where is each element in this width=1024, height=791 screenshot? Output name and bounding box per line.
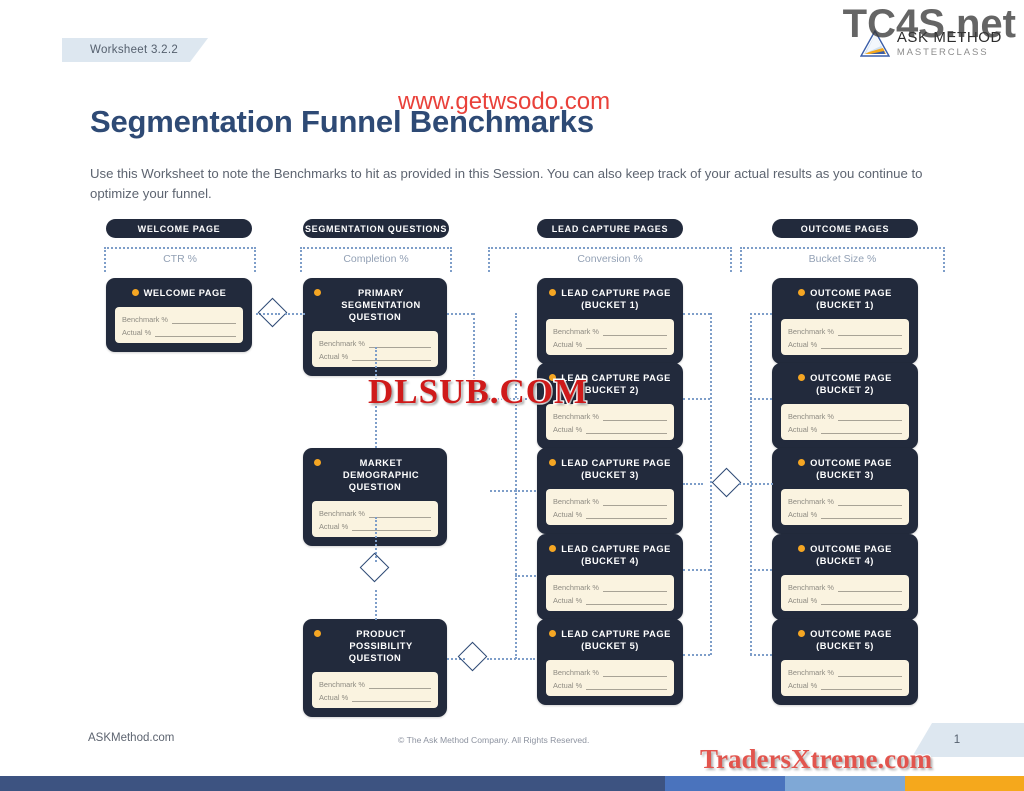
benchmark-field[interactable]: Benchmark % <box>788 409 902 421</box>
actual-field[interactable]: Actual % <box>553 422 667 434</box>
column-header-pill-0: WELCOME PAGE <box>106 219 252 238</box>
card-title: WELCOME PAGE <box>144 287 227 299</box>
connector-diamond-5 <box>360 553 390 583</box>
benchmark-field-label: Benchmark % <box>788 412 834 421</box>
connector-diamond-15 <box>458 642 488 672</box>
card-subtitle: (BUCKET 4) <box>546 555 674 567</box>
benchmark-field[interactable]: Benchmark % <box>319 677 431 689</box>
benchmark-field-input-line[interactable] <box>603 413 667 421</box>
actual-field-label: Actual % <box>122 328 151 337</box>
card-header: OUTCOME PAGE <box>781 628 909 640</box>
connector-line-h-7 <box>447 313 473 315</box>
benchmark-field-input-line[interactable] <box>369 340 431 348</box>
card-header: PRODUCT POSSIBILITY <box>312 628 438 652</box>
funnel-card[interactable]: LEAD CAPTURE PAGE(BUCKET 1)Benchmark %Ac… <box>537 278 683 364</box>
funnel-card[interactable]: OUTCOME PAGE(BUCKET 4)Benchmark %Actual … <box>772 534 918 620</box>
benchmark-field-input-line[interactable] <box>369 681 431 689</box>
column-header-label: SEGMENTATION QUESTIONS <box>305 224 447 234</box>
footer-copyright: © The Ask Method Company. All Rights Res… <box>398 735 589 745</box>
actual-field-label: Actual % <box>553 340 582 349</box>
orange-dot-icon <box>798 374 805 381</box>
card-subtitle: QUESTION <box>312 652 438 664</box>
funnel-card[interactable]: WELCOME PAGEBenchmark %Actual % <box>106 278 252 352</box>
card-header: LEAD CAPTURE PAGE <box>546 628 674 640</box>
card-fields: Benchmark %Actual % <box>312 672 438 708</box>
orange-dot-icon <box>549 630 556 637</box>
connector-line-h-26 <box>739 483 773 485</box>
benchmark-field-label: Benchmark % <box>553 412 599 421</box>
card-header: WELCOME PAGE <box>115 287 243 299</box>
card-title: LEAD CAPTURE PAGE <box>561 287 671 299</box>
bottom-bar-segment-navy <box>0 776 665 791</box>
benchmark-field-input-line[interactable] <box>369 510 431 518</box>
card-fields: Benchmark %Actual % <box>546 489 674 525</box>
connector-line-v-6 <box>375 590 377 620</box>
card-fields: Benchmark %Actual % <box>781 660 909 696</box>
connector-line-h-30 <box>750 654 772 656</box>
card-title: OUTCOME PAGE <box>810 287 892 299</box>
actual-field-label: Actual % <box>319 352 348 361</box>
card-subtitle: (BUCKET 5) <box>781 640 909 652</box>
orange-dot-icon <box>549 545 556 552</box>
funnel-card[interactable]: OUTCOME PAGE(BUCKET 1)Benchmark %Actual … <box>772 278 918 364</box>
funnel-card[interactable]: PRODUCT POSSIBILITYQUESTIONBenchmark %Ac… <box>303 619 447 717</box>
actual-field-label: Actual % <box>553 425 582 434</box>
card-header: OUTCOME PAGE <box>781 457 909 469</box>
connector-line-v-12 <box>515 490 517 575</box>
column-header-pill-3: OUTCOME PAGES <box>772 219 918 238</box>
card-subtitle: (BUCKET 5) <box>546 640 674 652</box>
connector-line-h-21 <box>683 569 710 571</box>
card-subtitle: (BUCKET 4) <box>781 555 909 567</box>
actual-field[interactable]: Actual % <box>319 690 431 702</box>
benchmark-field-label: Benchmark % <box>319 680 365 689</box>
card-header: PRIMARY SEGMENTATION <box>312 287 438 311</box>
funnel-card[interactable]: OUTCOME PAGE(BUCKET 5)Benchmark %Actual … <box>772 619 918 705</box>
benchmark-field[interactable]: Benchmark % <box>553 665 667 677</box>
column-metric-box-2: Conversion % <box>488 247 732 272</box>
actual-field-input-line[interactable] <box>586 597 667 605</box>
column-metric-label: Conversion % <box>490 253 730 265</box>
bottom-bar-segment-lightblue <box>785 776 905 791</box>
connector-line-h-20 <box>683 483 703 485</box>
watermark-getwsodo: www.getwsodo.com <box>398 88 610 116</box>
card-title: LEAD CAPTURE PAGE <box>561 628 671 640</box>
benchmark-field-label: Benchmark % <box>553 583 599 592</box>
benchmark-field-input-line[interactable] <box>838 669 902 677</box>
card-title: OUTCOME PAGE <box>810 628 892 640</box>
column-header-label: OUTCOME PAGES <box>801 224 889 234</box>
orange-dot-icon <box>549 289 556 296</box>
actual-field[interactable]: Actual % <box>788 337 902 349</box>
card-subtitle: (BUCKET 1) <box>781 299 909 311</box>
orange-dot-icon <box>798 545 805 552</box>
card-title: OUTCOME PAGE <box>810 543 892 555</box>
orange-dot-icon <box>798 630 805 637</box>
actual-field-input-line[interactable] <box>352 694 431 702</box>
card-fields: Benchmark %Actual % <box>781 404 909 440</box>
bottom-color-bar <box>0 776 1024 791</box>
card-subtitle: QUESTION <box>312 311 438 323</box>
actual-field[interactable]: Actual % <box>788 422 902 434</box>
column-header-pill-2: LEAD CAPTURE PAGES <box>537 219 683 238</box>
card-title: OUTCOME PAGE <box>810 372 892 384</box>
connector-line-h-16 <box>487 658 535 660</box>
benchmark-field[interactable]: Benchmark % <box>553 324 667 336</box>
connector-line-h-29 <box>750 569 772 571</box>
footer-site-label: ASKMethod.com <box>88 732 174 744</box>
benchmark-field[interactable]: Benchmark % <box>788 324 902 336</box>
benchmark-field[interactable]: Benchmark % <box>553 494 667 506</box>
actual-field-input-line[interactable] <box>586 341 667 349</box>
actual-field-input-line[interactable] <box>352 353 431 361</box>
actual-field[interactable]: Actual % <box>788 678 902 690</box>
card-subtitle: QUESTION <box>312 481 438 493</box>
card-subtitle: (BUCKET 2) <box>781 384 909 396</box>
column-metric-label: Bucket Size % <box>742 253 943 265</box>
card-header: LEAD CAPTURE PAGE <box>546 287 674 299</box>
watermark-tradersxtreme: TradersXtreme.com <box>700 744 932 775</box>
benchmark-field[interactable]: Benchmark % <box>788 580 902 592</box>
benchmark-field[interactable]: Benchmark % <box>788 494 902 506</box>
funnel-card[interactable]: OUTCOME PAGE(BUCKET 3)Benchmark %Actual … <box>772 448 918 534</box>
benchmark-field-label: Benchmark % <box>788 583 834 592</box>
actual-field-input-line[interactable] <box>586 682 667 690</box>
actual-field-input-line[interactable] <box>821 682 902 690</box>
orange-dot-icon <box>132 289 139 296</box>
column-header-pill-1: SEGMENTATION QUESTIONS <box>303 219 449 238</box>
connector-line-h-18 <box>683 313 710 315</box>
benchmark-field-label: Benchmark % <box>553 497 599 506</box>
card-title: LEAD CAPTURE PAGE <box>561 543 671 555</box>
benchmark-field-input-line[interactable] <box>603 584 667 592</box>
card-fields: Benchmark %Actual % <box>781 489 909 525</box>
orange-dot-icon <box>314 459 321 466</box>
actual-field-label: Actual % <box>788 340 817 349</box>
benchmark-field-input-line[interactable] <box>838 498 902 506</box>
benchmark-field-label: Benchmark % <box>553 327 599 336</box>
card-title: PRODUCT POSSIBILITY <box>326 628 436 652</box>
actual-field-label: Actual % <box>553 681 582 690</box>
actual-field-input-line[interactable] <box>155 329 236 337</box>
benchmark-field-label: Benchmark % <box>319 509 365 518</box>
actual-field-input-line[interactable] <box>821 341 902 349</box>
watermark-dlsub: DLSUB.COM <box>368 372 588 412</box>
actual-field-input-line[interactable] <box>586 426 667 434</box>
benchmark-field-input-line[interactable] <box>603 328 667 336</box>
actual-field-input-line[interactable] <box>352 523 431 531</box>
card-header: OUTCOME PAGE <box>781 372 909 384</box>
column-metric-box-3: Bucket Size % <box>740 247 945 272</box>
card-fields: Benchmark %Actual % <box>546 660 674 696</box>
funnel-card[interactable]: LEAD CAPTURE PAGE(BUCKET 3)Benchmark %Ac… <box>537 448 683 534</box>
column-metric-box-0: CTR % <box>104 247 256 272</box>
card-header: OUTCOME PAGE <box>781 543 909 555</box>
benchmark-field-label: Benchmark % <box>122 315 168 324</box>
orange-dot-icon <box>549 459 556 466</box>
card-title: PRIMARY SEGMENTATION <box>326 287 436 311</box>
card-fields: Benchmark %Actual % <box>781 575 909 611</box>
benchmark-field-label: Benchmark % <box>788 497 834 506</box>
card-subtitle: (BUCKET 1) <box>546 299 674 311</box>
funnel-card[interactable]: LEAD CAPTURE PAGE(BUCKET 4)Benchmark %Ac… <box>537 534 683 620</box>
connector-line-h-13 <box>515 575 536 577</box>
actual-field-label: Actual % <box>553 596 582 605</box>
actual-field[interactable]: Actual % <box>788 593 902 605</box>
benchmark-field-input-line[interactable] <box>838 413 902 421</box>
card-title: MARKET DEMOGRAPHIC <box>326 457 436 481</box>
connector-line-h-28 <box>750 398 772 400</box>
benchmark-field-label: Benchmark % <box>319 339 365 348</box>
benchmark-field-label: Benchmark % <box>553 668 599 677</box>
benchmark-field[interactable]: Benchmark % <box>788 665 902 677</box>
actual-field[interactable]: Actual % <box>553 678 667 690</box>
actual-field-label: Actual % <box>319 522 348 531</box>
card-header: LEAD CAPTURE PAGE <box>546 543 674 555</box>
connector-line-v-23 <box>710 313 712 655</box>
actual-field[interactable]: Actual % <box>122 325 236 337</box>
column-header-label: WELCOME PAGE <box>138 224 221 234</box>
actual-field-input-line[interactable] <box>821 426 902 434</box>
connector-diamond-24 <box>712 468 742 498</box>
funnel-card[interactable]: OUTCOME PAGE(BUCKET 2)Benchmark %Actual … <box>772 363 918 449</box>
actual-field-label: Actual % <box>788 425 817 434</box>
actual-field-label: Actual % <box>788 510 817 519</box>
connector-line-h-2 <box>285 313 305 315</box>
actual-field-label: Actual % <box>788 681 817 690</box>
worksheet-page: Worksheet 3.2.2 ASK METHOD MASTERCLASS S… <box>0 0 1024 791</box>
actual-field[interactable]: Actual % <box>553 337 667 349</box>
benchmark-field-input-line[interactable] <box>603 669 667 677</box>
benchmark-field-input-line[interactable] <box>838 584 902 592</box>
actual-field-input-line[interactable] <box>821 597 902 605</box>
card-subtitle: (BUCKET 3) <box>781 469 909 481</box>
column-metric-label: Completion % <box>302 253 450 265</box>
connector-line-h-22 <box>683 654 710 656</box>
card-fields: Benchmark %Actual % <box>546 575 674 611</box>
connector-line-h-27 <box>750 313 772 315</box>
card-fields: Benchmark %Actual % <box>115 307 243 343</box>
actual-field-label: Actual % <box>788 596 817 605</box>
benchmark-field-label: Benchmark % <box>788 327 834 336</box>
actual-field[interactable]: Actual % <box>553 593 667 605</box>
column-header-label: LEAD CAPTURE PAGES <box>552 224 668 234</box>
orange-dot-icon <box>314 289 321 296</box>
card-fields: Benchmark %Actual % <box>781 319 909 355</box>
bottom-bar-segment-orange <box>905 776 1024 791</box>
benchmark-field-input-line[interactable] <box>172 316 236 324</box>
orange-dot-icon <box>798 459 805 466</box>
benchmark-field-input-line[interactable] <box>838 328 902 336</box>
actual-field-input-line[interactable] <box>821 511 902 519</box>
bottom-bar-segment-blue <box>665 776 785 791</box>
benchmark-field[interactable]: Benchmark % <box>122 312 236 324</box>
connector-line-h-11 <box>490 490 536 492</box>
actual-field[interactable]: Actual % <box>553 507 667 519</box>
funnel-card[interactable]: LEAD CAPTURE PAGE(BUCKET 5)Benchmark %Ac… <box>537 619 683 705</box>
actual-field[interactable]: Actual % <box>788 507 902 519</box>
benchmark-field[interactable]: Benchmark % <box>553 580 667 592</box>
actual-field-label: Actual % <box>553 510 582 519</box>
card-header: OUTCOME PAGE <box>781 287 909 299</box>
actual-field-input-line[interactable] <box>586 511 667 519</box>
column-metric-box-1: Completion % <box>300 247 452 272</box>
connector-line-h-19 <box>683 398 710 400</box>
card-title: OUTCOME PAGE <box>810 457 892 469</box>
watermark-tc4s: TC4S.net <box>843 2 1016 47</box>
benchmark-field-input-line[interactable] <box>603 498 667 506</box>
card-header: LEAD CAPTURE PAGE <box>546 457 674 469</box>
page-number: 1 <box>954 734 960 746</box>
card-title: LEAD CAPTURE PAGE <box>561 457 671 469</box>
card-fields: Benchmark %Actual % <box>546 319 674 355</box>
orange-dot-icon <box>798 289 805 296</box>
card-header: MARKET DEMOGRAPHIC <box>312 457 438 481</box>
actual-field-label: Actual % <box>319 693 348 702</box>
connector-line-v-17 <box>515 575 517 659</box>
card-subtitle: (BUCKET 3) <box>546 469 674 481</box>
connector-diamond-1 <box>258 298 288 328</box>
orange-dot-icon <box>314 630 321 637</box>
column-metric-label: CTR % <box>106 253 254 265</box>
benchmark-field-label: Benchmark % <box>788 668 834 677</box>
